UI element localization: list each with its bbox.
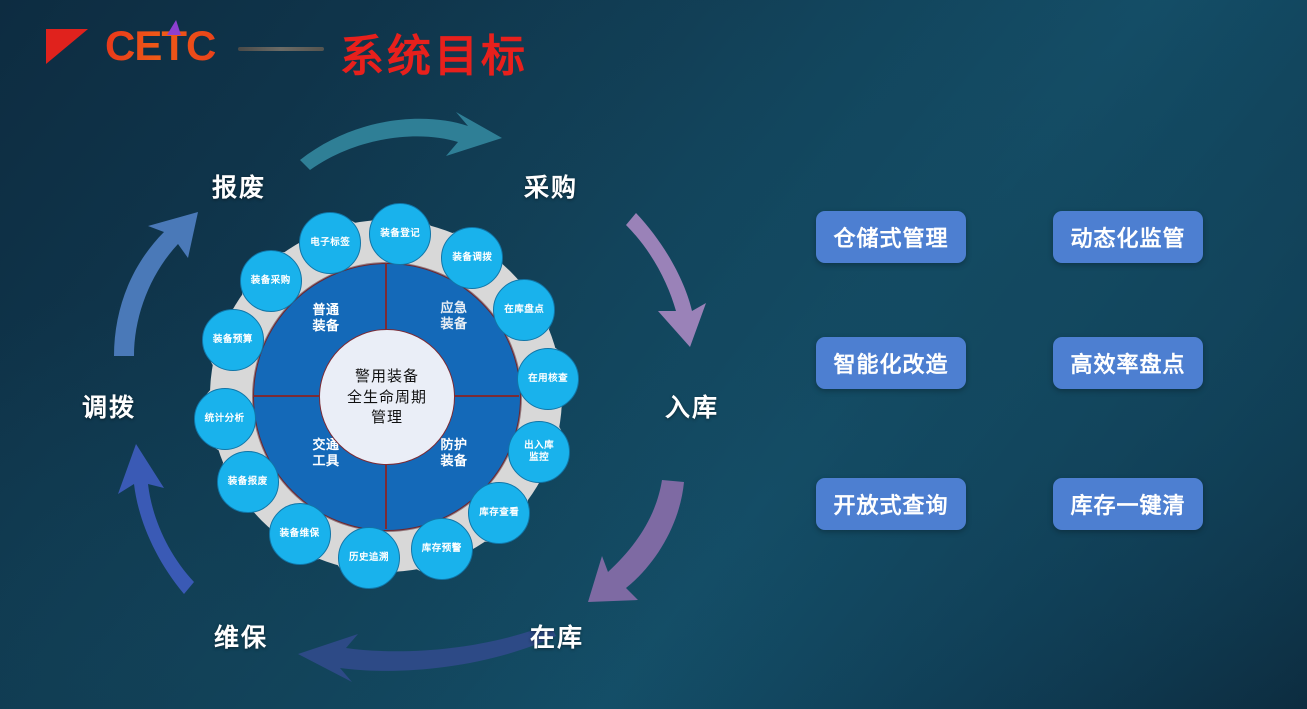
cetc-logo-text: CETC (105, 22, 215, 70)
header-divider (238, 47, 324, 51)
wheel-node-n13[interactable]: 装备报废 (217, 451, 279, 513)
feature-button-label: 高效率盘点 (1070, 347, 1185, 379)
feature-button-f4[interactable]: 高效率盘点 (1053, 337, 1203, 389)
arrow-lower-left-icon (106, 438, 196, 598)
ring-divider-left (253, 395, 320, 397)
wheel-node-n8[interactable]: 出入库监控 (508, 421, 570, 483)
wheel-node-label: 库存查看 (479, 507, 519, 519)
cetc-spark-icon (167, 20, 183, 35)
wheel-node-label: 装备维保 (280, 528, 320, 540)
wheel-node-label: 在库盘点 (504, 304, 544, 316)
quadrant-label-top-right: 应急装备 (426, 301, 482, 332)
wheel-node-label: 装备采购 (251, 275, 291, 287)
wheel-node-label: 库存预警 (422, 543, 462, 555)
feature-button-label: 开放式查询 (833, 488, 948, 520)
wheel-hub: 警用装备全生命周期管理 (319, 329, 455, 465)
feature-button-label: 仓储式管理 (833, 221, 948, 253)
ring-divider-top (385, 263, 387, 330)
arrow-top-icon (296, 108, 506, 174)
arrow-upper-right-icon (626, 207, 714, 352)
feature-button-label: 动态化监管 (1070, 221, 1185, 253)
wheel-node-label: 装备报废 (228, 476, 268, 488)
wheel-node-n4[interactable]: 装备登记 (369, 203, 431, 265)
slide-header: CETC 系统目标 (0, 0, 1307, 92)
feature-button-label: 库存一键清 (1070, 488, 1185, 520)
cetc-triangle-icon (46, 29, 88, 64)
wheel-node-n2[interactable]: 装备采购 (240, 250, 302, 312)
stage-label-inbound: 入库 (665, 388, 719, 424)
wheel-hub-text: 警用装备全生命周期管理 (347, 366, 427, 428)
ring-divider-bottom (385, 462, 387, 529)
wheel-node-n5[interactable]: 装备调拨 (441, 227, 503, 289)
feature-button-f5[interactable]: 开放式查询 (816, 478, 966, 530)
wheel-node-n1[interactable]: 装备预算 (202, 309, 264, 371)
stage-label-instock: 在库 (530, 618, 584, 654)
stage-label-purchase: 采购 (524, 168, 578, 204)
wheel-node-label: 统计分析 (205, 413, 245, 425)
wheel-node-n7[interactable]: 在用核查 (517, 348, 579, 410)
arrow-lower-right-icon (582, 478, 692, 616)
feature-button-f6[interactable]: 库存一键清 (1053, 478, 1203, 530)
wheel-hub-line: 全生命周期 (347, 387, 427, 408)
wheel-node-label: 装备调拨 (452, 252, 492, 264)
wheel-node-label: 在用核查 (528, 373, 568, 385)
wheel-node-label: 历史追溯 (349, 552, 389, 564)
wheel-node-label: 出入库监控 (524, 440, 554, 464)
wheel-hub-line: 管理 (347, 407, 427, 428)
slide-canvas: CETC 系统目标 普通装备 应急装备 交通工具 防护装备 警用装备全生 (0, 0, 1307, 709)
wheel-node-label: 电子标签 (310, 237, 350, 249)
stage-label-scrap: 报废 (212, 168, 266, 204)
stage-label-maintain: 维保 (214, 618, 268, 654)
wheel-node-n10[interactable]: 库存预警 (411, 518, 473, 580)
wheel-hub-line: 警用装备 (347, 366, 427, 387)
page-title: 系统目标 (340, 20, 528, 84)
lifecycle-wheel: 普通装备 应急装备 交通工具 防护装备 警用装备全生命周期管理 装备预算装备采购… (188, 198, 584, 594)
wheel-node-label: 装备预算 (213, 334, 253, 346)
wheel-node-label: 装备登记 (380, 228, 420, 240)
stage-label-transfer: 调拨 (82, 388, 136, 424)
wheel-node-n11[interactable]: 历史追溯 (338, 527, 400, 589)
wheel-node-n14[interactable]: 统计分析 (194, 388, 256, 450)
feature-button-f3[interactable]: 智能化改造 (816, 337, 966, 389)
feature-button-f2[interactable]: 动态化监管 (1053, 211, 1203, 263)
feature-button-label: 智能化改造 (833, 347, 948, 379)
wheel-node-n9[interactable]: 库存查看 (468, 482, 530, 544)
arrow-bottom-icon (268, 630, 560, 686)
wheel-node-n12[interactable]: 装备维保 (269, 503, 331, 565)
feature-button-f1[interactable]: 仓储式管理 (816, 211, 966, 263)
quadrant-label-top-left: 普通装备 (298, 303, 354, 334)
ring-divider-right (452, 395, 519, 397)
wheel-node-n6[interactable]: 在库盘点 (493, 279, 555, 341)
wheel-node-n3[interactable]: 电子标签 (299, 212, 361, 274)
